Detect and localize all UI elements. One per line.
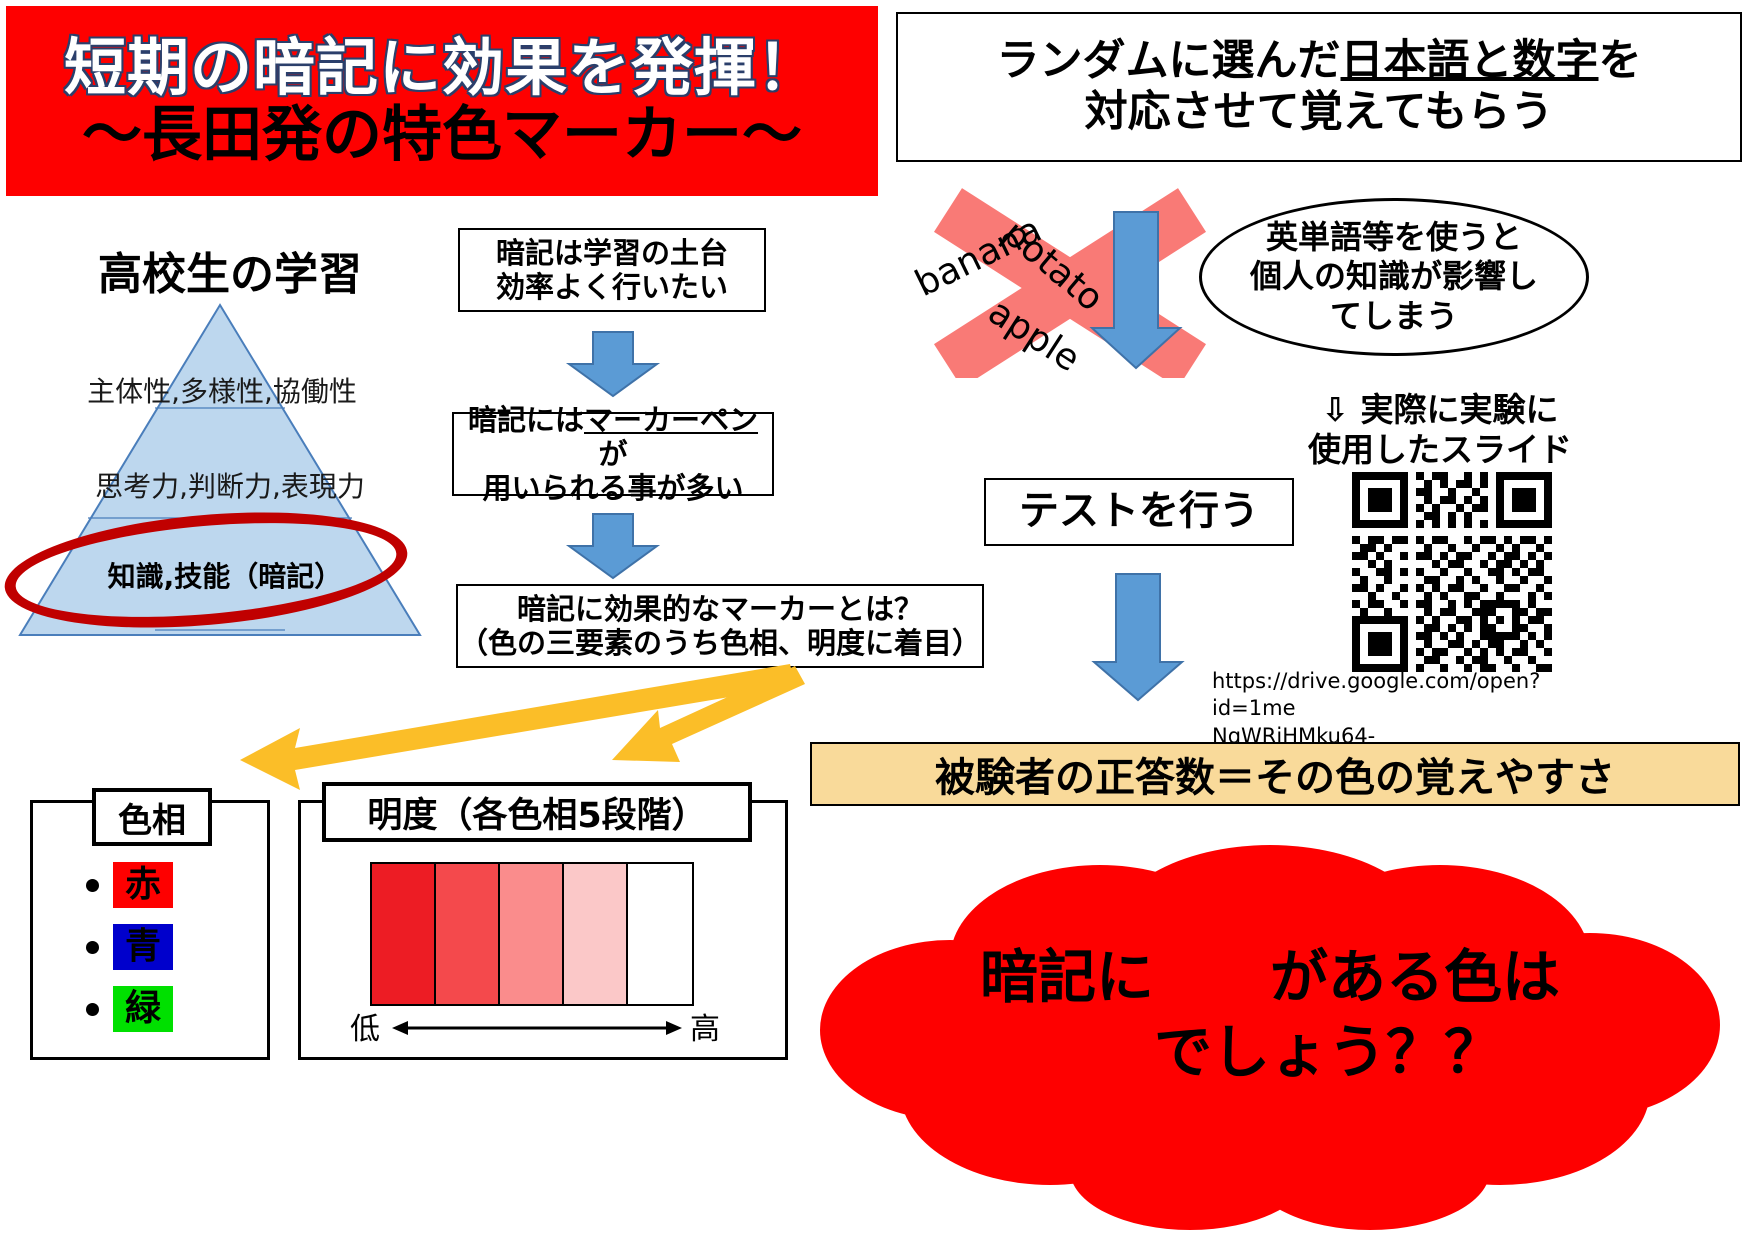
experiment-desc-suffix: を bbox=[1599, 36, 1642, 86]
hue-chip-blue: 青 bbox=[113, 924, 173, 970]
cloud-line2-highlight: 何色 bbox=[1038, 1018, 1154, 1086]
brightness-low-label: 低 bbox=[350, 1004, 380, 1048]
flow-step-2-underlined-term: マーカーペン bbox=[584, 403, 758, 437]
hue-chip-red: 赤 bbox=[113, 862, 173, 908]
cloud-line1-part3: がある色は bbox=[1270, 943, 1560, 1011]
poster-title-banner: 短期の暗記に効果を発揮！ 〜長田発の特色マーカー〜 bbox=[6, 6, 878, 196]
bullet-icon bbox=[86, 941, 99, 954]
flow-step-2-line1-suffix: が bbox=[598, 437, 627, 471]
experiment-flow-arrow-2 bbox=[1090, 572, 1186, 706]
callout-line1: 英単語等を使うと bbox=[1250, 218, 1538, 257]
flow-arrow-2 bbox=[565, 512, 661, 580]
bullet-icon bbox=[86, 1003, 99, 1016]
poster-title-line1: 短期の暗記に効果を発揮！ bbox=[64, 35, 820, 100]
flow-step-2-line1: 暗記にはマーカーペンが bbox=[454, 403, 772, 471]
experiment-description-line2: 対応させて覚えてもらう bbox=[997, 87, 1642, 138]
slide-note-line2: 使用したスライド bbox=[1290, 430, 1590, 470]
question-cloud-callout: 暗記に効果がある色は 何色でしょう？？ bbox=[800, 840, 1740, 1230]
question-cloud-text: 暗記に効果がある色は 何色でしょう？？ bbox=[800, 940, 1740, 1091]
flow-step-1-line1: 暗記は学習の土台 bbox=[496, 236, 728, 270]
experiment-flow-arrow-1 bbox=[1088, 210, 1184, 374]
flow-step-2-line1-prefix: 暗記には bbox=[468, 403, 584, 437]
question-cloud-line1: 暗記に効果がある色は bbox=[800, 940, 1740, 1015]
brightness-swatch-1 bbox=[372, 864, 436, 1004]
hue-chip-row-red: 赤 bbox=[86, 862, 173, 908]
flow-arrow-1 bbox=[565, 330, 661, 398]
question-cloud-line2: 何色でしょう？？ bbox=[800, 1015, 1740, 1090]
hue-chip-row-blue: 青 bbox=[86, 924, 173, 970]
test-step-box: テストを行う bbox=[984, 478, 1294, 546]
cloud-line1-part1: 暗記に bbox=[980, 943, 1154, 1011]
cloud-line1-highlight: 効果 bbox=[1154, 943, 1270, 1011]
slide-reference-note: ⇩ 実際に実験に 使用したスライド bbox=[1290, 390, 1590, 469]
callout-line3: てしまう bbox=[1250, 297, 1538, 336]
result-definition-banner: 被験者の正答数＝その色の覚えやすさ bbox=[810, 742, 1740, 806]
brightness-swatch-4 bbox=[564, 864, 628, 1004]
hue-chip-green: 緑 bbox=[113, 986, 173, 1032]
slide-url-line1: https://drive.google.com/open?id=1me bbox=[1212, 668, 1572, 723]
pyramid-layer-top-label: 主体性,多様性,協働性 bbox=[72, 370, 372, 410]
qr-code[interactable] bbox=[1352, 472, 1552, 672]
slide-note-line1: ⇩ 実際に実験に bbox=[1290, 390, 1590, 430]
brightness-high-label: 高 bbox=[690, 1004, 720, 1048]
flow-step-1-line2: 効率よく行いたい bbox=[496, 270, 728, 304]
bullet-icon bbox=[86, 879, 99, 892]
flow-step-1-box: 暗記は学習の土台 効率よく行いたい bbox=[458, 228, 766, 312]
brightness-panel-label: 明度（各色相5段階） bbox=[322, 782, 752, 842]
brightness-axis-arrow bbox=[392, 1018, 682, 1038]
flow-step-2-line2: 用いられる事が多い bbox=[454, 471, 772, 505]
experiment-description-box: ランダムに選んだ日本語と数字を 対応させて覚えてもらう bbox=[896, 12, 1742, 162]
experiment-description-line1: ランダムに選んだ日本語と数字を bbox=[997, 36, 1642, 87]
cloud-line2-part2: でしょう？？ bbox=[1154, 1018, 1502, 1086]
experiment-desc-prefix: ランダムに選んだ bbox=[997, 36, 1341, 86]
hue-chip-row-green: 緑 bbox=[86, 986, 173, 1032]
experiment-desc-underlined: 日本語と数字 bbox=[1341, 36, 1599, 86]
callout-line2: 個人の知識が影響し bbox=[1250, 257, 1538, 296]
brightness-scale-swatches bbox=[370, 862, 694, 1006]
brightness-swatch-2 bbox=[436, 864, 500, 1004]
brightness-swatch-3 bbox=[500, 864, 564, 1004]
hue-panel-label: 色相 bbox=[92, 788, 212, 846]
pyramid-layer-middle-label: 思考力,判断力,表現力 bbox=[80, 465, 380, 505]
english-words-caveat-callout: 英単語等を使うと 個人の知識が影響し てしまう bbox=[1199, 198, 1589, 356]
poster-title-line2: 〜長田発の特色マーカー〜 bbox=[82, 104, 802, 167]
flow-step-2-box: 暗記にはマーカーペンが 用いられる事が多い bbox=[452, 412, 774, 496]
brightness-swatch-5 bbox=[628, 864, 692, 1004]
pyramid-heading: 高校生の学習 bbox=[60, 238, 400, 302]
